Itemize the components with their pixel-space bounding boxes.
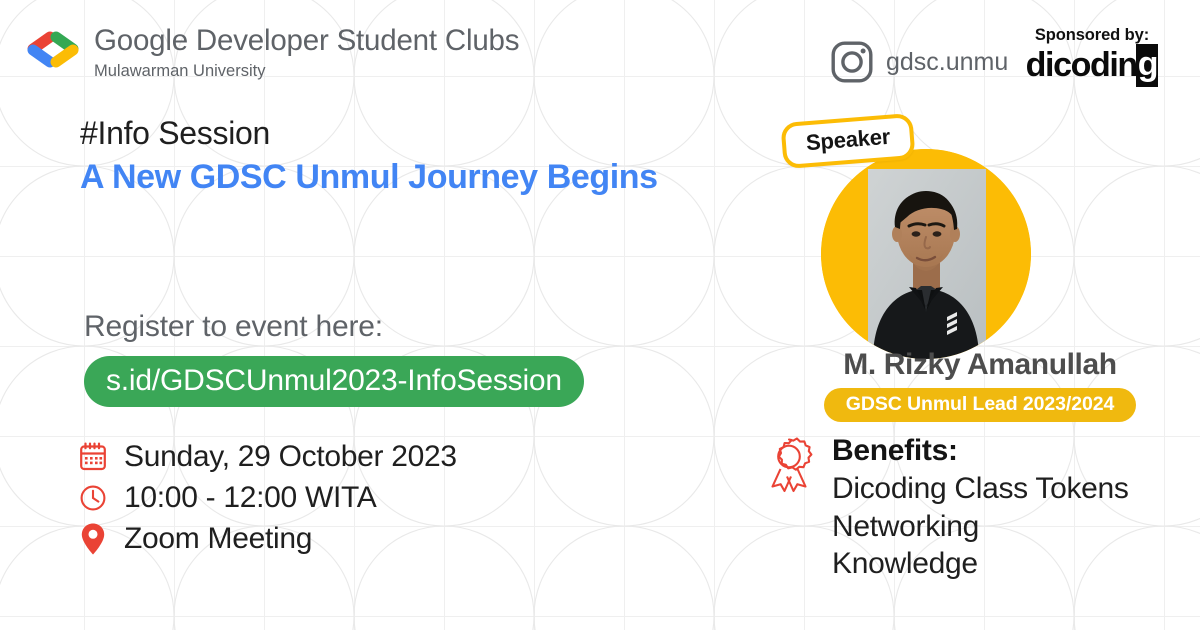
event-date-text: Sunday, 29 October 2023 — [124, 440, 457, 474]
detail-row-location: Zoom Meeting — [78, 519, 457, 558]
org-name: Google Developer Student Clubs — [94, 26, 519, 56]
registration-block: Register to event here: s.id/GDSCUnmul20… — [84, 310, 584, 407]
instagram-icon — [830, 40, 874, 84]
instagram-handle-block[interactable]: gdsc.unmu — [830, 40, 1008, 84]
benefits-text: Benefits: Dicoding Class Tokens Networki… — [832, 432, 1129, 583]
event-details-list: Sunday, 29 October 2023 10:00 - 12:00 WI… — [78, 437, 457, 560]
event-title-block: #Info Session A New GDSC Unmul Journey B… — [80, 116, 740, 197]
dicoding-g-mark: g — [1136, 44, 1159, 87]
detail-row-time: 10:00 - 12:00 WITA — [78, 478, 457, 517]
gdsc-chevron-logo-icon — [26, 30, 80, 70]
benefits-block: Benefits: Dicoding Class Tokens Networki… — [760, 432, 1129, 583]
sponsor-label: Sponsored by: — [1012, 26, 1172, 45]
benefits-item-3: Knowledge — [832, 545, 1129, 583]
event-headline: A New GDSC Unmul Journey Begins — [80, 157, 740, 197]
event-time-text: 10:00 - 12:00 WITA — [124, 481, 377, 515]
clock-icon — [78, 482, 108, 514]
register-label: Register to event here: — [84, 310, 584, 344]
sponsor-block: Sponsored by: dicoding — [1012, 26, 1172, 83]
calendar-icon — [78, 441, 108, 473]
poster-header: Google Developer Student Clubs Mulawarma… — [0, 0, 1200, 108]
gdsc-logo-lockup: Google Developer Student Clubs Mulawarma… — [26, 26, 519, 79]
instagram-handle-text: gdsc.unmu — [886, 48, 1008, 77]
event-poster: Google Developer Student Clubs Mulawarma… — [0, 0, 1200, 630]
benefits-title: Benefits: — [832, 432, 1129, 470]
detail-row-date: Sunday, 29 October 2023 — [78, 437, 457, 476]
dicoding-logo: dicoding — [1012, 47, 1172, 83]
benefits-item-1: Dicoding Class Tokens — [832, 470, 1129, 508]
speaker-name: M. Rizky Amanullah — [790, 348, 1170, 382]
dicoding-wordmark: dicodin — [1026, 48, 1137, 82]
speaker-role-pill: GDSC Unmul Lead 2023/2024 — [790, 388, 1170, 422]
avatar — [821, 149, 1031, 359]
event-kicker: #Info Session — [80, 116, 740, 151]
event-location-text: Zoom Meeting — [124, 522, 312, 556]
benefits-item-2: Networking — [832, 508, 1129, 546]
register-link-pill[interactable]: s.id/GDSCUnmul2023-InfoSession — [84, 356, 584, 407]
org-chapter: Mulawarman University — [94, 63, 519, 80]
speaker-photo — [821, 149, 1031, 359]
location-pin-icon — [78, 523, 108, 555]
speaker-role-text: GDSC Unmul Lead 2023/2024 — [824, 388, 1136, 422]
award-ribbon-icon — [760, 436, 818, 498]
